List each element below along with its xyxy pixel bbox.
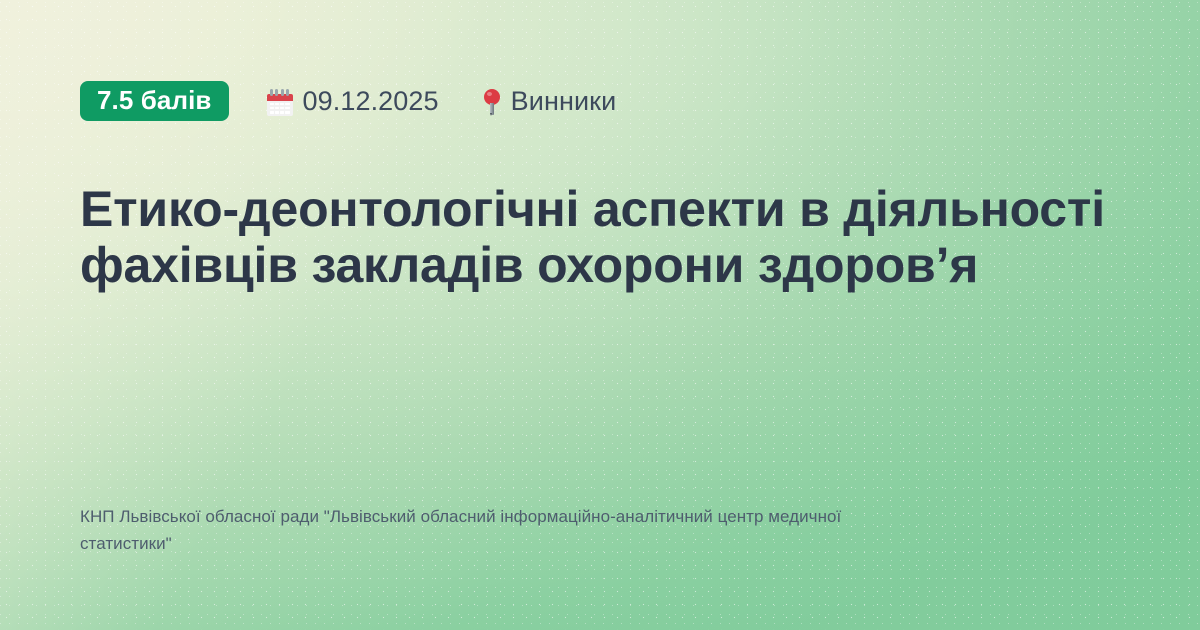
- page-title: Етико-деонтологічні аспекти в діяльності…: [80, 181, 1120, 293]
- score-badge: 7.5 балів: [80, 81, 229, 122]
- event-date-label: 09.12.2025: [303, 86, 439, 117]
- calendar-icon: [267, 89, 293, 116]
- event-location: Винники: [483, 86, 617, 117]
- meta-row: 7.5 балів 09.12.2025: [80, 78, 1120, 124]
- event-banner-card: 7.5 балів 09.12.2025: [0, 0, 1200, 630]
- event-date: 09.12.2025: [267, 86, 439, 117]
- event-location-label: Винники: [511, 86, 617, 117]
- organizer-name: КНП Львівської обласної ради "Львівський…: [80, 503, 900, 558]
- round-pushpin-icon: [483, 88, 501, 116]
